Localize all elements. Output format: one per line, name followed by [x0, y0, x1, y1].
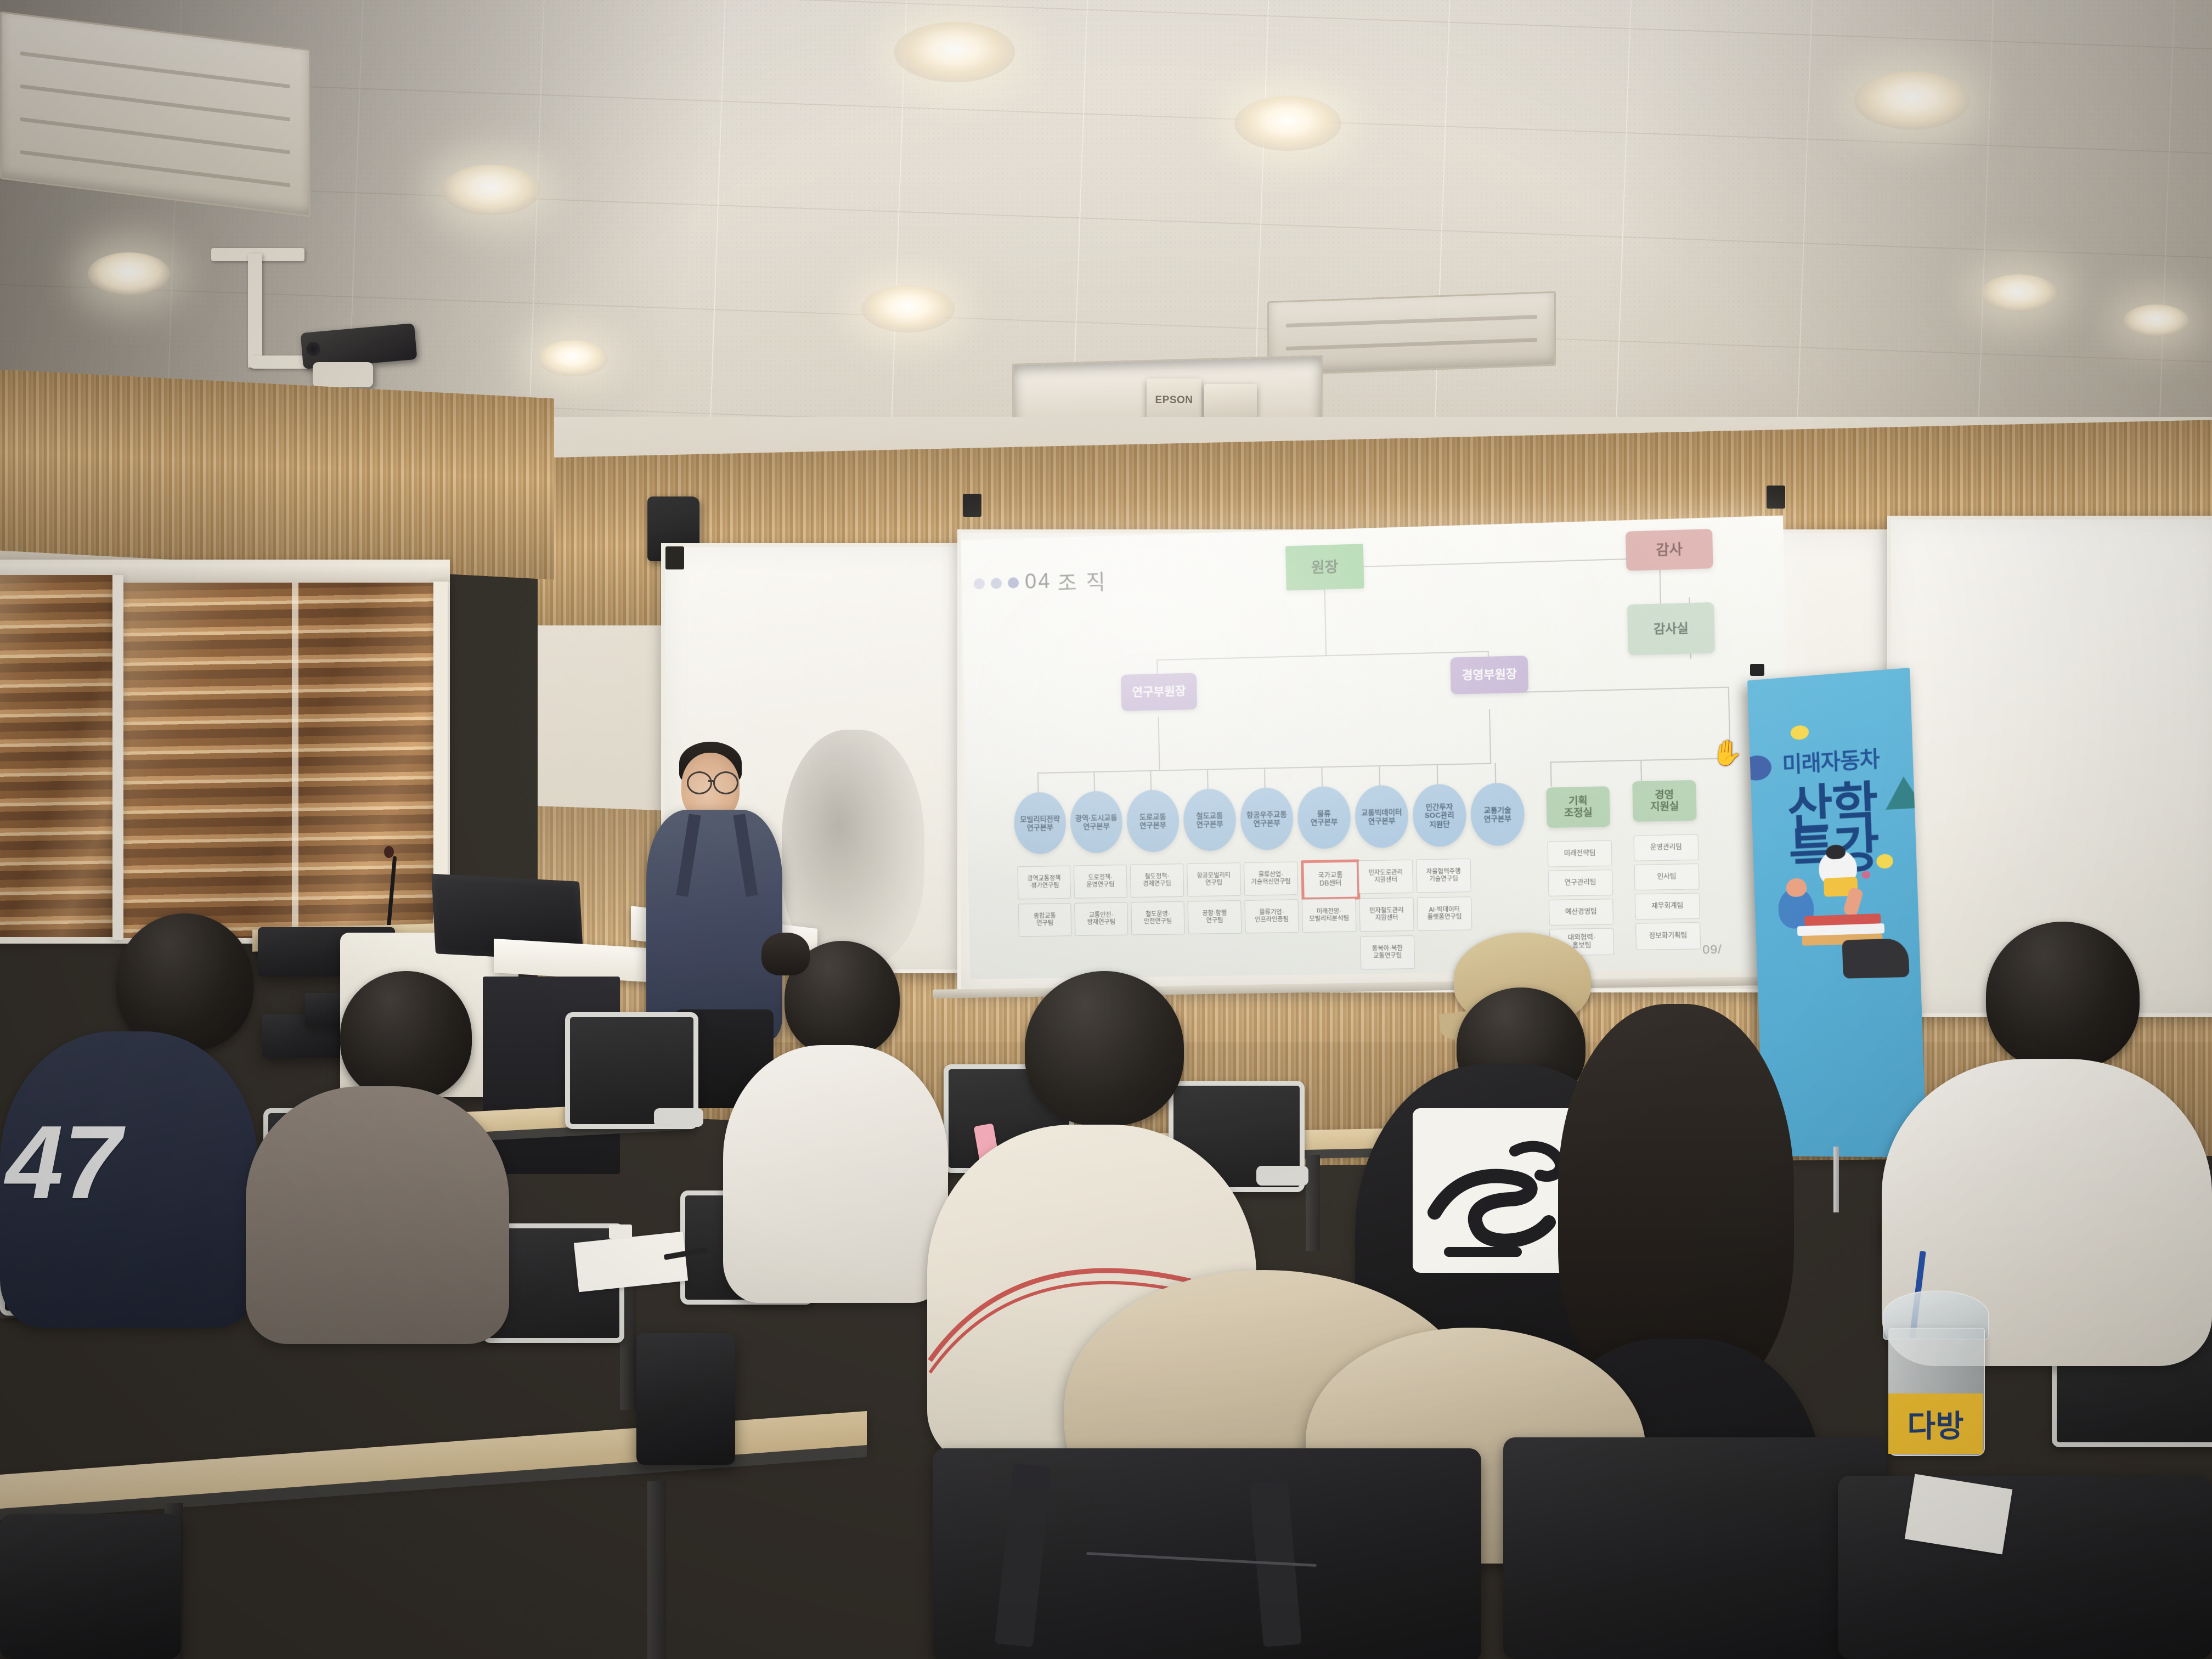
org-link	[1325, 557, 1659, 568]
student-head	[1025, 971, 1184, 1126]
microphone-head-icon	[384, 846, 394, 858]
org-node-vice-president-management: 경영부원장	[1450, 656, 1528, 695]
window-blinds-left[interactable]	[0, 575, 116, 937]
slide-date-label: 09/	[1702, 942, 1722, 957]
window-mullion	[112, 575, 123, 940]
ceiling-downlight	[1234, 96, 1341, 151]
student-torso	[723, 1045, 948, 1303]
org-admin-team-card: 예산경영팀	[1549, 899, 1613, 926]
wood-slat-wall-left	[0, 370, 554, 580]
hand-cursor-icon: ✋	[1711, 737, 1745, 770]
banner-hook	[1750, 664, 1764, 676]
student-hair-bun	[761, 933, 810, 975]
cup-brand-text: 다방	[1907, 1402, 1963, 1446]
jersey-number: 47	[5, 1103, 121, 1222]
ceiling-downlight	[442, 165, 540, 215]
org-team-card: 미래전망· 모빌리티분석팀	[1302, 899, 1357, 933]
cup-brand-band: 다방	[1888, 1393, 1983, 1454]
org-team-card: 철도정책· 경제연구팀	[1130, 864, 1184, 898]
org-division-7: 민간투자 SOC관리 지원단	[1412, 783, 1467, 847]
student-head	[340, 971, 472, 1100]
org-team-card: 공항·항행 연구팀	[1188, 900, 1242, 934]
ceiling-downlight	[861, 285, 955, 332]
chair-arm[interactable]	[654, 1108, 703, 1127]
chair-backpack	[636, 1333, 735, 1465]
org-admin-team-card: 재무회계팀	[1635, 893, 1700, 919]
org-node-vice-president-research: 연구부원장	[1121, 673, 1197, 711]
org-team-card: 철도운영· 안전연구팀	[1131, 901, 1185, 935]
slide-title-text: 조 직	[1057, 565, 1107, 596]
org-team-card: 민자도로관리 지원센터	[1358, 860, 1413, 894]
projector-brand-label: EPSON	[1155, 394, 1193, 407]
org-admin-team-card: 인사팀	[1634, 864, 1700, 890]
lecture-hall-photo: EPSON 0	[0, 0, 2212, 1659]
eraser	[609, 1224, 632, 1239]
chair-arm[interactable]	[1256, 1166, 1308, 1186]
slide-title: 04 조 직	[973, 565, 1107, 599]
org-admin-team-card: 정보화기획팀	[1635, 922, 1701, 950]
org-team-card: 동북아·북한 교통연구팀	[1360, 935, 1415, 969]
org-team-card: 교통안전· 방재연구팀	[1074, 902, 1128, 936]
presenter-glasses-icon	[713, 771, 738, 794]
ceiling-downlight	[894, 22, 1015, 82]
org-team-card: 도로정책· 운영연구팀	[1074, 865, 1127, 899]
bag-on-desk	[0, 1514, 181, 1659]
ceiling-downlight	[1980, 274, 2057, 312]
banner-pole	[1833, 1147, 1839, 1212]
banner-decor-dot	[1790, 725, 1809, 740]
worksheet-paper	[574, 1232, 688, 1292]
org-team-card: 자율협력주행 기술연구팀	[1416, 859, 1471, 893]
org-division-8: 교통기술 연구본부	[1470, 782, 1525, 846]
presenter-blazer	[646, 810, 782, 1040]
org-admin-planning: 기획 조정실	[1546, 786, 1610, 828]
org-admin-team-card: 미래전략팀	[1547, 840, 1612, 867]
org-team-card: 민자철도관리 지원센터	[1359, 898, 1414, 932]
org-division-3: 철도교통 연구본부	[1183, 788, 1237, 851]
org-node-audit-office: 감사실	[1627, 602, 1715, 656]
org-division-0: 모빌리티전략 연구본부	[1013, 792, 1066, 854]
slide-title-number: 04	[1025, 569, 1052, 594]
org-link	[1324, 589, 1327, 656]
whiteboard-clip	[963, 494, 981, 517]
org-division-5: 물류 연구본부	[1297, 786, 1351, 849]
org-link	[1156, 651, 1489, 661]
ceiling-projector: EPSON	[1147, 379, 1201, 422]
student-head	[1986, 922, 2140, 1070]
org-team-card: 항공모빌리티 연구팀	[1187, 862, 1241, 896]
org-node-president: 원장	[1285, 544, 1364, 590]
org-admin-team-card: 운영관리팀	[1633, 834, 1699, 861]
ceiling-downlight	[2123, 304, 2189, 336]
org-team-card: 광역교통정책 ·평가연구팀	[1017, 866, 1071, 900]
org-division-6: 교통빅데이터 연구본부	[1355, 785, 1409, 848]
backpack-far-right	[1838, 1476, 2212, 1659]
whiteboard-clip	[665, 546, 684, 569]
org-admin-team-card: 연구관리팀	[1548, 870, 1613, 896]
presenter-glasses-bridge	[708, 780, 714, 782]
org-team-card-highlighted: 국가교통 DB센터	[1301, 859, 1360, 900]
student-head	[116, 913, 253, 1051]
banner-illustration-seated-head	[1786, 878, 1807, 897]
org-admin-management: 경영 지원실	[1632, 780, 1697, 822]
org-team-card: 종합교통 연구팀	[1018, 903, 1072, 937]
org-division-2: 도로교통 연구본부	[1126, 789, 1180, 853]
org-link	[1158, 717, 1160, 771]
title-dot-2	[991, 578, 1002, 589]
org-division-4: 항공우주교통 연구본부	[1240, 787, 1294, 850]
org-link	[1550, 761, 1552, 786]
backpack-right	[1503, 1437, 1887, 1659]
ceiling-downlight	[88, 252, 170, 295]
camera-bracket	[313, 362, 373, 387]
desk-leg	[647, 1481, 666, 1659]
title-dot-1	[974, 578, 985, 589]
org-team-card: 물류기업· 인프라인증팀	[1244, 899, 1299, 933]
banner-illustration-laptop	[1842, 938, 1909, 979]
ceiling-downlight	[1854, 71, 1970, 129]
ceiling-downlight	[538, 340, 608, 376]
org-link	[1489, 709, 1491, 764]
blind-panel-divider	[292, 583, 298, 938]
whiteboard-clip	[1767, 486, 1785, 509]
org-team-card: 물류산업· 기술혁신연구팀	[1244, 861, 1298, 895]
projected-slide: 04 조 직 원장 감사 감사실 연구부원장 경영	[961, 516, 1793, 979]
title-dot-3	[1008, 577, 1019, 589]
camera-lens-icon	[306, 341, 321, 357]
org-division-1: 광역·도시교통 연구본부	[1070, 791, 1123, 853]
student-torso	[246, 1086, 509, 1344]
presenter-glasses-icon	[687, 771, 712, 794]
org-team-card: AI·빅데이터 플랫폼연구팀	[1417, 896, 1472, 931]
camera-mount-pole	[248, 253, 262, 368]
org-node-auditor: 감사	[1626, 529, 1713, 571]
projector-lens-housing	[1204, 384, 1257, 418]
